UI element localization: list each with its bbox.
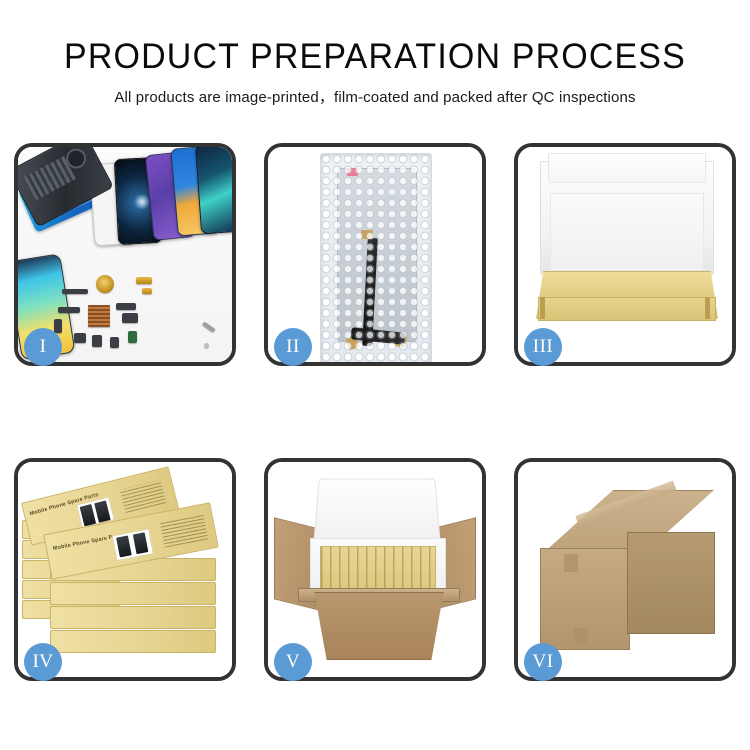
part-screwdriver bbox=[202, 321, 216, 332]
carton-tape-upper bbox=[564, 554, 578, 572]
retail-box-top-speclines bbox=[120, 480, 167, 513]
part-sim-tray bbox=[110, 337, 119, 348]
yellow-box-front-wall bbox=[538, 297, 716, 321]
part-screw bbox=[204, 343, 209, 348]
flex-connector-top bbox=[361, 230, 373, 239]
foam-back-wall bbox=[550, 193, 704, 271]
pink-label-sticker bbox=[347, 168, 358, 176]
part-speaker bbox=[74, 333, 86, 343]
retail-box-front-5 bbox=[50, 630, 216, 653]
step-panel-6[interactable]: VI bbox=[514, 458, 736, 681]
step-panel-5[interactable]: V bbox=[264, 458, 486, 681]
part-button-set bbox=[92, 335, 102, 347]
page-title: PRODUCT PREPARATION PROCESS bbox=[11, 36, 739, 78]
part-flex-cable-b bbox=[54, 319, 62, 333]
phone-teal-wave bbox=[195, 147, 232, 234]
foam-box-lid bbox=[313, 479, 441, 547]
carton-body bbox=[302, 592, 456, 660]
step-badge-3: III bbox=[524, 328, 562, 366]
packed-retail-boxes bbox=[320, 546, 436, 592]
part-gold-flex-b bbox=[142, 288, 152, 294]
step-badge-5: V bbox=[274, 643, 312, 681]
step-panel-1[interactable]: I bbox=[14, 143, 236, 366]
step-badge-4: IV bbox=[24, 643, 62, 681]
part-gold-flex-a bbox=[136, 277, 152, 284]
carton-right-face bbox=[627, 532, 715, 634]
retail-box-front-3 bbox=[50, 582, 216, 605]
retail-box-front-speclines bbox=[160, 514, 208, 548]
box-notch-left bbox=[540, 297, 545, 319]
carton-tape-lower bbox=[574, 628, 588, 644]
page-header: PRODUCT PREPARATION PROCESS All products… bbox=[0, 36, 750, 109]
part-vibration-coil bbox=[96, 275, 114, 293]
part-camera-module bbox=[122, 313, 138, 323]
foam-lid-flap bbox=[548, 153, 706, 183]
bubble-wrap-sleeve bbox=[320, 153, 432, 362]
part-flex-cable-c bbox=[116, 303, 136, 310]
part-flex-cable-a bbox=[58, 307, 80, 313]
retail-box-front-photo bbox=[112, 528, 154, 561]
step-panel-2[interactable]: II bbox=[264, 143, 486, 366]
retail-box-front-4 bbox=[50, 606, 216, 629]
step-badge-2: II bbox=[274, 328, 312, 366]
part-connector-grid bbox=[88, 305, 110, 327]
box-notch-right bbox=[705, 297, 710, 319]
step-panel-3[interactable]: III bbox=[514, 143, 736, 366]
lcd-screen-assembly bbox=[337, 168, 417, 342]
product-preparation-page: PRODUCT PREPARATION PROCESS All products… bbox=[0, 0, 750, 750]
process-steps-grid: I II bbox=[14, 143, 736, 681]
part-earpiece-mesh bbox=[62, 289, 88, 294]
step-badge-1: I bbox=[24, 328, 62, 366]
part-pcb-green bbox=[128, 331, 137, 343]
step-badge-6: VI bbox=[524, 643, 562, 681]
step-panel-4[interactable]: Mobile Phone Spare Parts Mobile Phone Sp… bbox=[14, 458, 236, 681]
page-subtitle: All products are image-printed，film-coat… bbox=[0, 87, 750, 109]
